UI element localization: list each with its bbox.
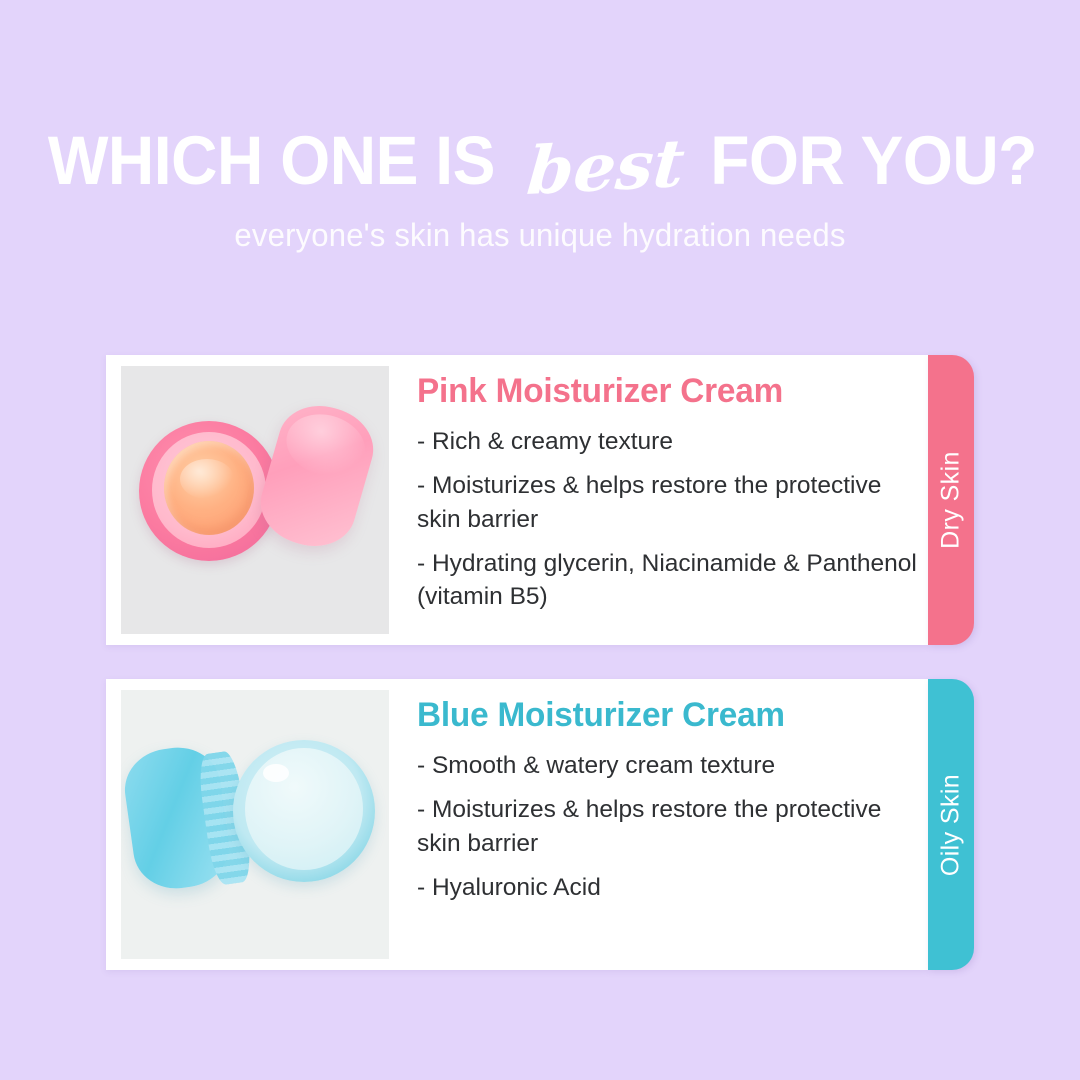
product-card-pink[interactable]: Pink Moisturizer Cream - Rich & creamy t… (106, 355, 928, 645)
pink-card-content: Pink Moisturizer Cream - Rich & creamy t… (389, 366, 928, 634)
headline-part-one: WHICH ONE IS (48, 126, 495, 195)
page-subtitle: everyone's skin has unique hydration nee… (16, 217, 1064, 254)
blue-card-content: Blue Moisturizer Cream - Smooth & watery… (389, 690, 928, 959)
list-item: - Hyaluronic Acid (417, 871, 917, 904)
list-item: - Smooth & watery cream texture (417, 749, 917, 782)
pink-jar-cream (164, 441, 254, 535)
headline-script-word: best (508, 129, 701, 205)
list-item: - Rich & creamy texture (417, 425, 917, 458)
blue-feature-list: - Smooth & watery cream texture - Moistu… (417, 749, 928, 904)
blue-moisturizer-jar-photo (121, 690, 389, 959)
page-headline: WHICH ONE IS best FOR YOU? (0, 126, 1080, 195)
list-item: - Hydrating glycerin, Niacinamide & Pant… (417, 547, 917, 614)
product-card-blue[interactable]: Blue Moisturizer Cream - Smooth & watery… (106, 679, 928, 970)
skin-type-tab-dry-label: Dry Skin (937, 451, 966, 549)
skin-type-tab-dry[interactable]: Dry Skin (928, 355, 974, 645)
skin-type-tab-oily-label: Oily Skin (937, 773, 966, 875)
pink-jar-lid (252, 395, 383, 556)
skin-type-tab-oily[interactable]: Oily Skin (928, 679, 974, 970)
pink-feature-list: - Rich & creamy texture - Moisturizes & … (417, 425, 928, 614)
product-title-blue: Blue Moisturizer Cream (417, 696, 918, 735)
headline-part-two: FOR YOU? (710, 126, 1037, 195)
product-title-pink: Pink Moisturizer Cream (417, 372, 918, 411)
pink-moisturizer-jar-photo (121, 366, 389, 634)
header: WHICH ONE IS best FOR YOU? everyone's sk… (0, 0, 1080, 254)
list-item: - Moisturizes & helps restore the protec… (417, 469, 917, 536)
blue-jar-cream (245, 748, 363, 870)
list-item: - Moisturizes & helps restore the protec… (417, 793, 917, 860)
